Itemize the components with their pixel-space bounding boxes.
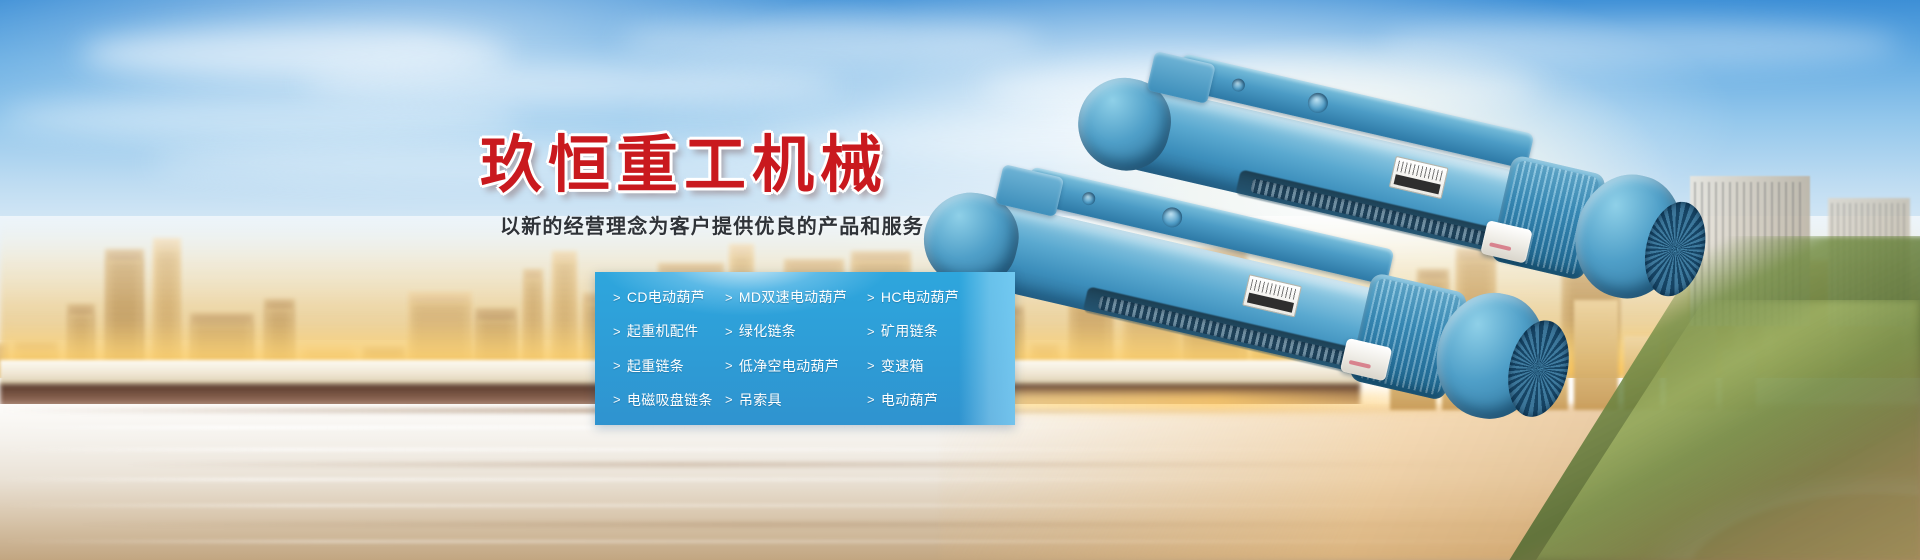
product-link[interactable]: >MD双速电动葫芦 [725,280,867,314]
page-subtitle: 以新的经营理念为客户提供优良的产品和服务 [500,210,924,239]
product-link-label: 起重链条 [627,356,684,376]
product-link[interactable]: >矿用链条 [867,314,1015,348]
chevron-right-icon: > [867,291,875,304]
product-link[interactable]: >起重链条 [613,349,725,383]
chevron-right-icon: > [725,291,733,304]
product-link[interactable]: >低净空电动葫芦 [725,349,867,383]
chevron-right-icon: > [613,359,621,372]
chevron-right-icon: > [613,393,621,406]
chevron-right-icon: > [867,393,875,406]
chevron-right-icon: > [725,359,733,372]
chevron-right-icon: > [613,291,621,304]
product-link-label: 低净空电动葫芦 [739,356,839,376]
chevron-right-icon: > [725,393,733,406]
product-link-label: 变速箱 [881,356,924,376]
cloud [1380,20,1900,68]
chevron-right-icon: > [867,359,875,372]
product-links-list: >CD电动葫芦>MD双速电动葫芦>HC电动葫芦>起重机配件>绿化链条>矿用链条>… [595,272,1015,425]
chevron-right-icon: > [613,325,621,338]
cloud [0,96,520,140]
cloud [620,18,1040,64]
product-link-label: 电磁吸盘链条 [627,390,713,410]
product-link-label: MD双速电动葫芦 [739,287,847,307]
product-link[interactable]: >绿化链条 [725,314,867,348]
product-link-label: HC电动葫芦 [881,287,959,307]
hero-banner: 玖恒重工机械 以新的经营理念为客户提供优良的产品和服务 >CD电动葫芦>MD双速… [0,0,1920,560]
product-link[interactable]: >吊索具 [725,383,867,417]
product-link[interactable]: >电动葫芦 [867,383,1015,417]
product-link-label: 吊索具 [739,390,782,410]
product-link[interactable]: >HC电动葫芦 [867,280,1015,314]
product-link-label: 起重机配件 [627,321,699,341]
product-link-label: 绿化链条 [739,321,796,341]
chevron-right-icon: > [725,325,733,338]
product-link-label: CD电动葫芦 [627,287,705,307]
chevron-right-icon: > [867,325,875,338]
product-link[interactable]: >起重机配件 [613,314,725,348]
product-link[interactable]: >变速箱 [867,349,1015,383]
product-link[interactable]: >电磁吸盘链条 [613,383,725,417]
product-link[interactable]: >CD电动葫芦 [613,280,725,314]
product-links-panel: >CD电动葫芦>MD双速电动葫芦>HC电动葫芦>起重机配件>绿化链条>矿用链条>… [595,272,1015,425]
page-title: 玖恒重工机械 [480,114,888,204]
product-link-label: 矿用链条 [881,321,938,341]
product-link-label: 电动葫芦 [881,390,938,410]
